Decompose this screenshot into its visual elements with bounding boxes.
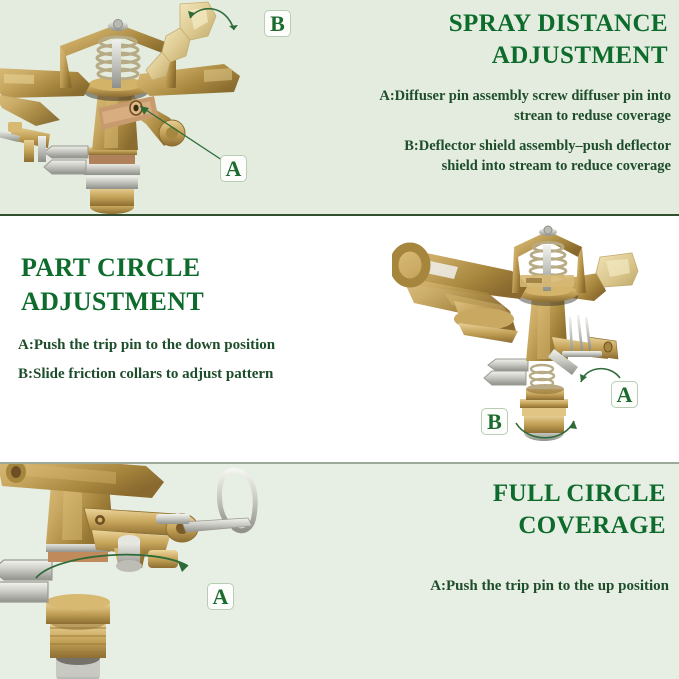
callout-badge-b: B — [481, 408, 508, 435]
panel-1-body-line-b: B:Deflector shield assembly–push deflect… — [371, 136, 671, 176]
callout-badge-a: A — [611, 381, 638, 408]
panel-2-body-line-a: A:Push the trip pin to the down position — [18, 335, 318, 356]
panel-divider-top — [0, 214, 679, 216]
panel-2-title-line-2: ADJUSTMENT — [21, 287, 204, 316]
panel-1-title: SPRAY DISTANCE ADJUSTMENT — [371, 8, 671, 72]
callout-badge-a: A — [207, 583, 234, 610]
panel-2-body: A:Push the trip pin to the down position… — [18, 335, 318, 385]
panel-spray-distance-adjustment: B A SPRAY DISTANCE ADJUSTMENT A:Diffuser… — [0, 0, 679, 215]
callout-badge-a: A — [220, 155, 247, 182]
panel-1-body-line-a: A:Diffuser pin assembly screw diffuser p… — [371, 86, 671, 126]
panel-full-circle-coverage: A FULL CIRCLE COVERAGE A:Push the trip p… — [0, 464, 679, 679]
full-circle-text-block: FULL CIRCLE COVERAGE A:Push the trip pin… — [349, 478, 669, 596]
callout-badge-b: B — [264, 10, 291, 37]
panel-2-body-line-b: B:Slide friction collars to adjust patte… — [18, 364, 318, 385]
panel-2-title-line-1: PART CIRCLE — [21, 253, 201, 282]
rotation-arrow-b-panel2 — [512, 415, 582, 449]
panel-1-title-line-2: ADJUSTMENT — [492, 42, 668, 69]
panel-part-circle-adjustment: A B PART CIRCLE ADJUSTMENT A:Push the tr… — [0, 217, 679, 462]
spray-distance-text-block: SPRAY DISTANCE ADJUSTMENT A:Diffuser pin… — [371, 8, 671, 176]
panel-3-body-line-a: A:Push the trip pin to the up position — [349, 576, 669, 596]
panel-3-title-line-1: FULL CIRCLE — [493, 480, 666, 507]
infographic-sheet: B A SPRAY DISTANCE ADJUSTMENT A:Diffuser… — [0, 0, 679, 679]
rotation-arrow-b-panel1 — [184, 2, 246, 60]
panel-1-title-line-1: SPRAY DISTANCE — [449, 10, 668, 37]
rotation-arrow-a-panel3 — [32, 540, 200, 590]
panel-3-body: A:Push the trip pin to the up position — [349, 576, 669, 596]
panel-2-title: PART CIRCLE ADJUSTMENT — [18, 251, 318, 319]
part-circle-text-block: PART CIRCLE ADJUSTMENT A:Push the trip p… — [18, 251, 318, 393]
panel-1-body: A:Diffuser pin assembly screw diffuser p… — [371, 86, 671, 176]
panel-3-title-line-2: COVERAGE — [518, 512, 666, 539]
panel-3-title: FULL CIRCLE COVERAGE — [349, 478, 669, 542]
